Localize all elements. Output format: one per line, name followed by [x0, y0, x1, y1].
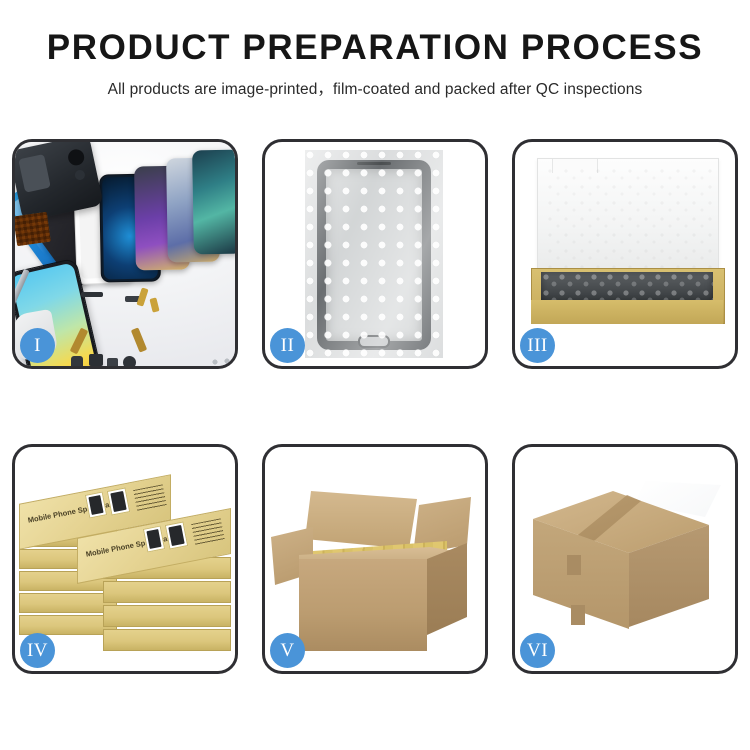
step-panel-6: VI [512, 444, 738, 674]
step-panel-4: Mobile Phone Spare Parts Mobile Phone Sp… [12, 444, 238, 674]
kraft-box-front-panel [531, 300, 723, 324]
box-stack: Mobile Phone Spare Parts Mobile Phone Sp… [17, 471, 235, 661]
small-component-icon-3 [107, 358, 118, 366]
small-component-icon-2 [89, 354, 103, 366]
screws-icon [211, 358, 235, 366]
step-panel-1: I [12, 139, 238, 369]
foam-padding-icon [537, 158, 719, 282]
step-badge-3: III [520, 328, 555, 363]
page-title: PRODUCT PREPARATION PROCESS [0, 30, 750, 65]
header: PRODUCT PREPARATION PROCESS All products… [0, 0, 750, 99]
stacked-box-right-3 [103, 605, 231, 627]
step-panel-2: II [262, 139, 488, 369]
step-badge-4: IV [20, 633, 55, 668]
camera-module-icon [123, 356, 136, 366]
teal-swirl-phone-icon [192, 150, 235, 255]
step-panel-5: V [262, 444, 488, 674]
carton-flap-back [305, 491, 417, 549]
page-subtitle: All products are image-printed，film-coat… [0, 77, 750, 99]
step-panel-3: III [512, 139, 738, 369]
step-badge-1: I [20, 328, 55, 363]
step-badge-5: V [270, 633, 305, 668]
carton-side-panel [427, 543, 467, 635]
plastic-sheen-overlay [305, 150, 443, 358]
carton-body [299, 559, 427, 651]
step-badge-6: VI [520, 633, 555, 668]
step-badge-2: II [270, 328, 305, 363]
carton-tab-upper [567, 555, 581, 575]
carton-tab-lower [571, 605, 585, 625]
stacked-box-right-2 [103, 581, 231, 603]
stacked-box-right-4 [103, 629, 231, 651]
steps-grid: I II III [12, 139, 738, 674]
small-component-icon-1 [71, 356, 83, 366]
product-preparation-infographic: PRODUCT PREPARATION PROCESS All products… [0, 0, 750, 750]
chip-grid-icon [15, 212, 51, 246]
speaker-part-icon [81, 292, 103, 297]
